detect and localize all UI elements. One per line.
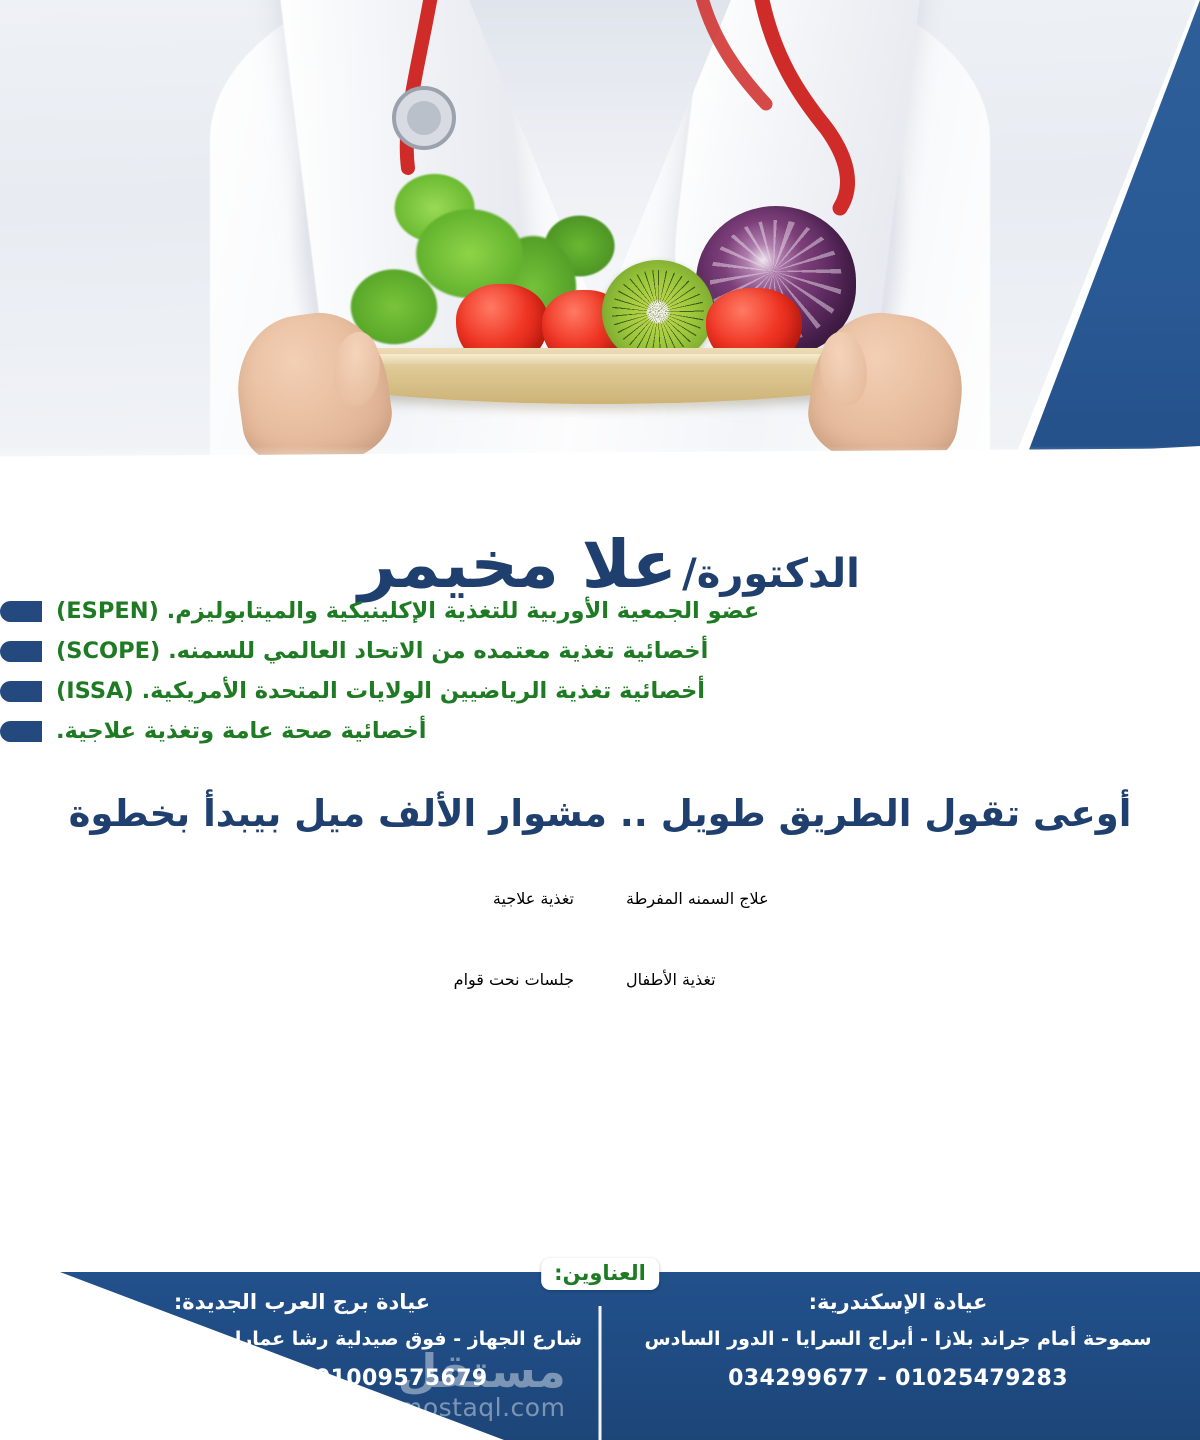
- title-prefix: الدكتورة/: [682, 551, 860, 597]
- tray-of-produce: [280, 160, 920, 460]
- page-title: الدكتورة/ علا مخيمر: [0, 532, 1200, 598]
- service-label: جلسات نحت قوام: [454, 970, 574, 989]
- clinic-name: عيادة برج العرب الجديدة:: [22, 1290, 582, 1314]
- credential-text: أخصائية تغذية الرياضيين الولايات المتحدة…: [56, 678, 705, 704]
- service-label: تغذية علاجية: [493, 889, 574, 908]
- flyer-root: الدكتورة/ علا مخيمر عضو الجمعية الأوربية…: [0, 0, 1200, 1440]
- credentials-list: عضو الجمعية الأوربية للتغذية الإكلينيكية…: [0, 598, 1200, 744]
- bullet-pill-icon: [0, 601, 42, 622]
- service-item: تغذية الأطفال: [600, 970, 1200, 989]
- credential-item: أخصائية صحة عامة وتغذية علاجية.: [0, 718, 426, 744]
- credential-item: أخصائية تغذية الرياضيين الولايات المتحدة…: [0, 678, 705, 704]
- watermark-url: mostaql.com: [398, 1393, 565, 1422]
- content-area: الدكتورة/ علا مخيمر عضو الجمعية الأوربية…: [0, 486, 1200, 1276]
- clinic-alexandria: عيادة الإسكندرية: سموحة أمام جراند بلازا…: [618, 1290, 1178, 1391]
- credential-item: أخصائية تغذية معتمده من الاتحاد العالمي …: [0, 638, 708, 664]
- addresses-badge: العناوين:: [541, 1258, 659, 1290]
- service-item: جلسات نحت قوام: [0, 970, 600, 989]
- bullet-pill-icon: [0, 721, 42, 742]
- footer: العناوين: عيادة الإسكندرية: سموحة أمام ج…: [0, 1272, 1200, 1440]
- bullet-pill-icon: [0, 641, 42, 662]
- credential-text: أخصائية صحة عامة وتغذية علاجية.: [56, 718, 426, 744]
- doctor-name: علا مخيمر: [358, 526, 677, 603]
- clinic-phone[interactable]: 01090444629 - 01009575679: [22, 1366, 582, 1391]
- service-label: تغذية الأطفال: [626, 970, 716, 989]
- credential-item: عضو الجمعية الأوربية للتغذية الإكلينيكية…: [0, 598, 759, 624]
- services-grid: علاج السمنه المفرطة تغذية علاجية تغذية ا…: [0, 889, 1200, 989]
- slogan-text: أوعى تقول الطريق طويل .. مشوار الألف ميل…: [0, 792, 1200, 835]
- credential-text: عضو الجمعية الأوربية للتغذية الإكلينيكية…: [56, 598, 759, 624]
- clinic-phone[interactable]: 034299677 - 01025479283: [618, 1366, 1178, 1391]
- hero-image: [0, 0, 1200, 486]
- service-item: تغذية علاجية: [0, 889, 600, 908]
- service-label: علاج السمنه المفرطة: [626, 889, 769, 908]
- clinic-address: سموحة أمام جراند بلازا - أبراج السرايا -…: [618, 1328, 1178, 1350]
- clinic-name: عيادة الإسكندرية:: [618, 1290, 1178, 1314]
- credential-text: أخصائية تغذية معتمده من الاتحاد العالمي …: [56, 638, 708, 664]
- service-item: علاج السمنه المفرطة: [600, 889, 1200, 908]
- clinic-address: شارع الجهاز - فوق صيدلية رشا عمارات التج…: [22, 1328, 582, 1350]
- clinic-borg-el-arab: عيادة برج العرب الجديدة: شارع الجهاز - ف…: [22, 1290, 582, 1391]
- footer-divider: [599, 1306, 602, 1440]
- bullet-pill-icon: [0, 681, 42, 702]
